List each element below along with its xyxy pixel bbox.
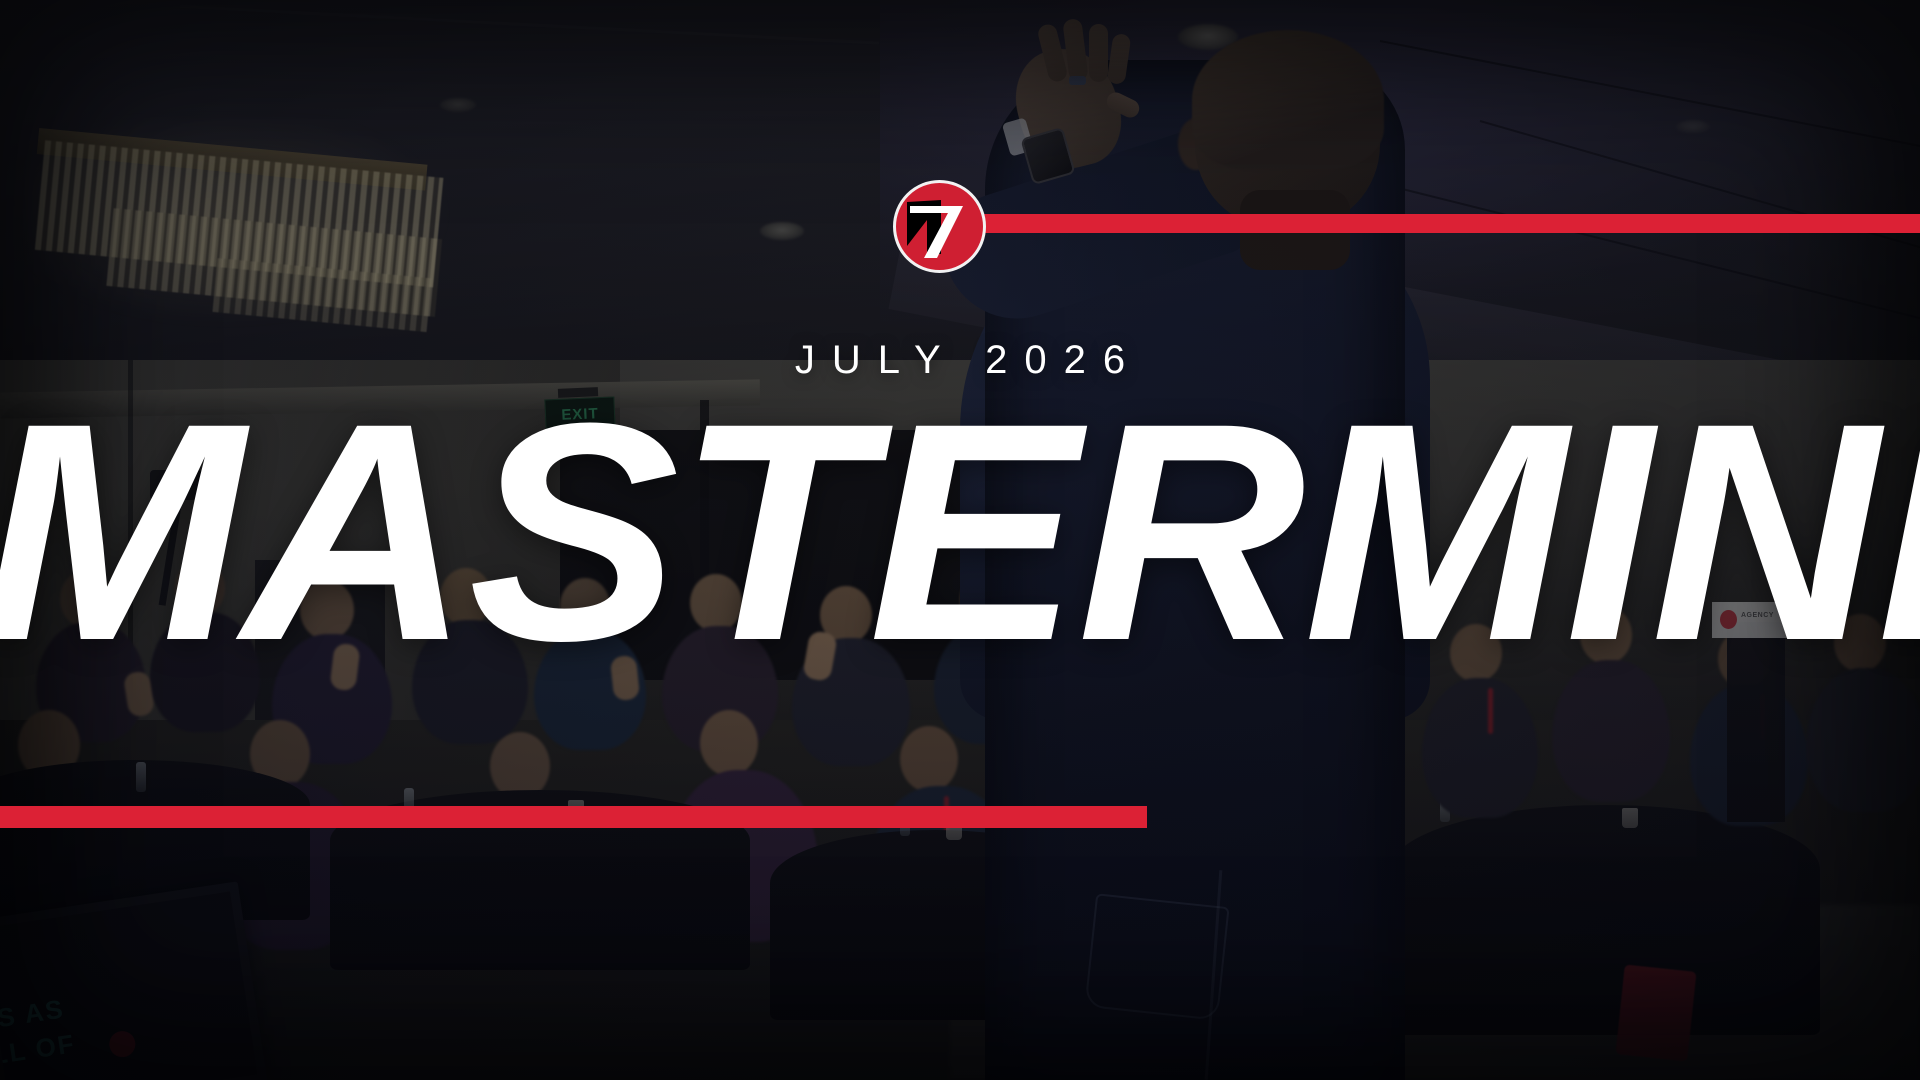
accent-bar-top — [960, 214, 1920, 233]
jeans-pocket — [1084, 893, 1229, 1020]
ring — [1069, 76, 1086, 85]
downlight — [1676, 120, 1710, 133]
downlight — [440, 98, 476, 112]
downlight — [760, 222, 804, 240]
accent-bar-bottom — [0, 806, 1147, 828]
monitor-screen: IS AS LL OF — [0, 892, 257, 1080]
conference-bag — [1615, 964, 1696, 1061]
speaker-hair — [1192, 30, 1384, 170]
water-bottle — [136, 762, 146, 792]
display-monitor: IS AS LL OF — [0, 881, 268, 1080]
logo-seven-glyph — [893, 180, 986, 273]
seven-logo-icon — [893, 180, 986, 273]
event-title: MASTERMIND — [0, 382, 1920, 682]
finger — [1089, 24, 1108, 82]
promo-graphic: EXIT — [0, 0, 1920, 1080]
